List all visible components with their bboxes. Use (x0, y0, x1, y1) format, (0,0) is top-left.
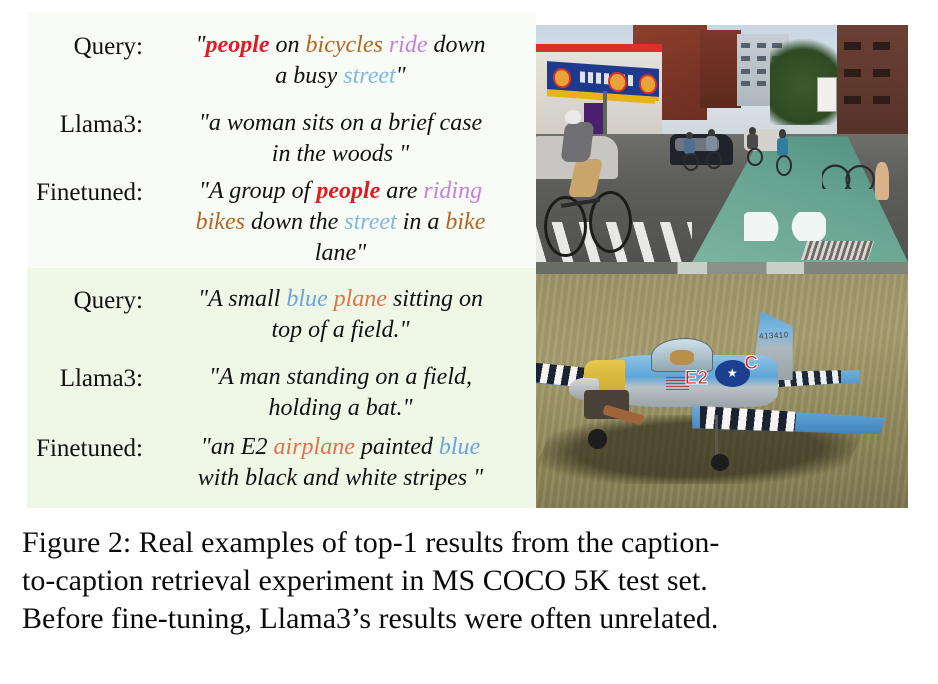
caption-line: "a woman sits on a brief case (155, 108, 526, 139)
blue-airplane-photo: 413410 E2 ★ C (536, 262, 908, 508)
row-caption-llama3: "A man standing on a field, holding a ba… (155, 362, 536, 424)
caption-line: "A small blue plane sitting on (155, 284, 526, 315)
field-horizon (536, 262, 908, 274)
caption-line: top of a field." (155, 315, 526, 346)
example-2-text-panel: Query: "A small blue plane sitting on to… (27, 268, 536, 508)
row-label-llama3: Llama3: (27, 108, 155, 142)
main-landing-gear-wheel (588, 429, 607, 449)
row-label-llama3: Llama3: (27, 362, 155, 396)
tail-number: 413410 (759, 330, 789, 341)
table-row: Finetuned: "an E2 airplane painted blue … (27, 432, 536, 494)
marking-c: C (744, 353, 758, 375)
table-row: Llama3: "A man standing on a field, hold… (27, 362, 536, 424)
right-building (837, 25, 908, 148)
caption-line: in the woods " (155, 139, 526, 170)
row-label-query: Query: (27, 284, 155, 318)
row-caption-query: "people on bicycles ride down a busy str… (155, 30, 536, 92)
table-row: Llama3: "a woman sits on a brief case in… (27, 108, 536, 170)
storefront-red-roofline (536, 44, 662, 52)
street-sign (817, 77, 838, 112)
caption-line: Figure 2: Real examples of top-1 results… (22, 524, 916, 562)
table-row: Query: "A small blue plane sitting on to… (27, 284, 536, 346)
figure-caption: Figure 2: Real examples of top-1 results… (0, 524, 938, 638)
row-caption-finetuned: "A group of people are riding bikes down… (155, 176, 536, 269)
cyclist-distant (681, 132, 698, 168)
black-suv (670, 134, 733, 165)
caption-line: holding a bat." (155, 393, 526, 424)
row-caption-finetuned: "an E2 airplane painted blue with black … (155, 432, 536, 494)
caption-line: "people on bicycles ride down (155, 30, 526, 61)
caption-line: "A group of people are riding (155, 176, 526, 207)
bike-lane-symbol-icon (744, 212, 826, 240)
table-row: Query: "people on bicycles ride down a b… (27, 30, 536, 92)
parked-bicycles (822, 158, 874, 189)
caption-line: Before fine-tuning, Llama3’s results wer… (22, 600, 916, 638)
marking-e2: E2 (685, 368, 708, 390)
caption-line: lane" (155, 238, 526, 269)
caption-line: to-caption retrieval experiment in MS CO… (22, 562, 916, 600)
caption-line: "an E2 airplane painted blue (155, 432, 526, 463)
row-caption-llama3: "a woman sits on a brief case in the woo… (155, 108, 536, 170)
foreground-cyclist (543, 110, 640, 257)
example-1-text-panel: Query: "people on bicycles ride down a b… (27, 12, 536, 268)
cyclist-distant (703, 129, 720, 165)
table-row: Finetuned: "A group of people are riding… (27, 176, 536, 269)
street-bike-lane-photo (536, 25, 908, 262)
fire-hydrant (875, 162, 890, 200)
caption-line: bikes down the street in a bike (155, 207, 526, 238)
caption-line: "A man standing on a field, (155, 362, 526, 393)
row-label-query: Query: (27, 30, 155, 64)
cyclist-distant (774, 129, 791, 172)
caption-line: a busy street" (155, 61, 526, 92)
figure-2: Query: "people on bicycles ride down a b… (0, 0, 938, 520)
helmet (565, 110, 581, 123)
row-label-finetuned: Finetuned: (27, 176, 155, 210)
nose-gear-strut (715, 415, 719, 459)
row-caption-query: "A small blue plane sitting on top of a … (155, 284, 536, 346)
brick-building-secondary (700, 30, 741, 108)
caption-line: with black and white stripes " (155, 463, 526, 494)
cyclist-distant (744, 127, 761, 163)
row-label-finetuned: Finetuned: (27, 432, 155, 466)
storm-grate (801, 241, 874, 260)
